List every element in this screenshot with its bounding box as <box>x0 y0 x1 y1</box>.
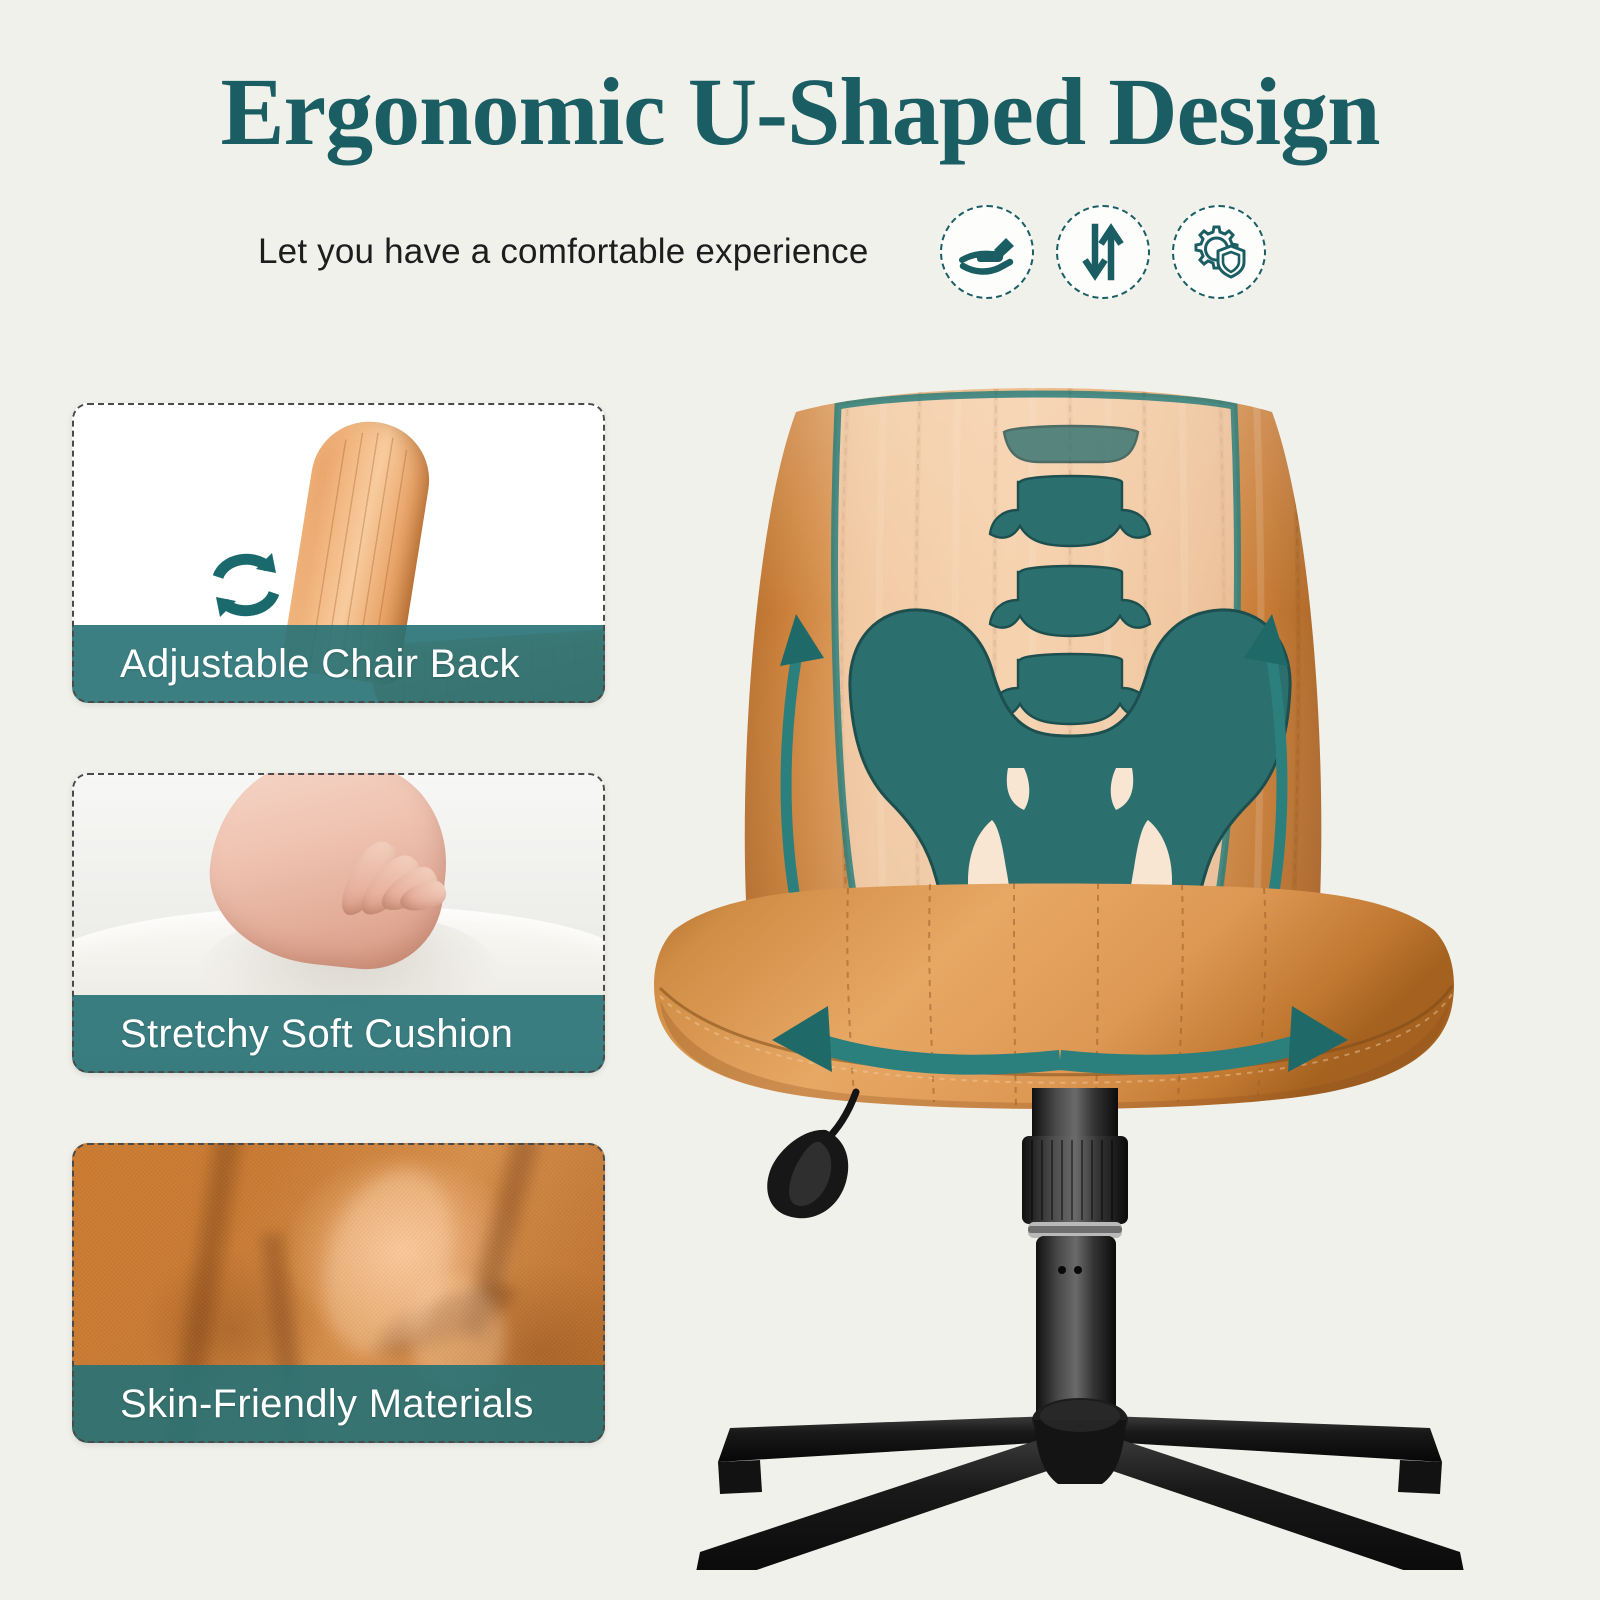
page-subtitle: Let you have a comfortable experience <box>258 232 869 272</box>
height-adjust-lever[interactable] <box>767 1092 856 1218</box>
marketing-banner: Ergonomic U-Shaped Design Let you have a… <box>0 0 1600 1600</box>
feature-card-adjustable-chair-back[interactable]: Adjustable Chair Back <box>72 403 605 703</box>
feature-card-label-bar: Adjustable Chair Back <box>72 625 605 703</box>
feature-card-label-bar: Stretchy Soft Cushion <box>72 995 605 1073</box>
feature-card-skin-friendly-materials[interactable]: Skin-Friendly Materials <box>72 1143 605 1443</box>
feature-badge-row <box>940 205 1266 299</box>
feature-card-label: Skin-Friendly Materials <box>120 1382 534 1427</box>
quality-safety-badge <box>1172 205 1266 299</box>
feature-card-label: Adjustable Chair Back <box>120 642 520 687</box>
rotate-arrows-icon <box>200 543 292 630</box>
feature-card-stretchy-soft-cushion[interactable]: Stretchy Soft Cushion <box>72 773 605 1073</box>
gas-cylinder <box>1022 1088 1128 1436</box>
page-title: Ergonomic U-Shaped Design <box>0 62 1600 163</box>
feature-card-label: Stretchy Soft Cushion <box>120 1012 513 1057</box>
product-chair-image <box>600 370 1560 1570</box>
comfort-badge <box>940 205 1034 299</box>
height-adjust-badge <box>1056 205 1150 299</box>
hand-comfort-icon <box>958 226 1016 278</box>
x-shaped-base <box>692 1398 1468 1570</box>
chair-seat <box>654 883 1454 1109</box>
up-down-arrows-icon <box>1080 223 1126 281</box>
feature-card-label-bar: Skin-Friendly Materials <box>72 1365 605 1443</box>
gear-shield-icon <box>1190 224 1248 280</box>
